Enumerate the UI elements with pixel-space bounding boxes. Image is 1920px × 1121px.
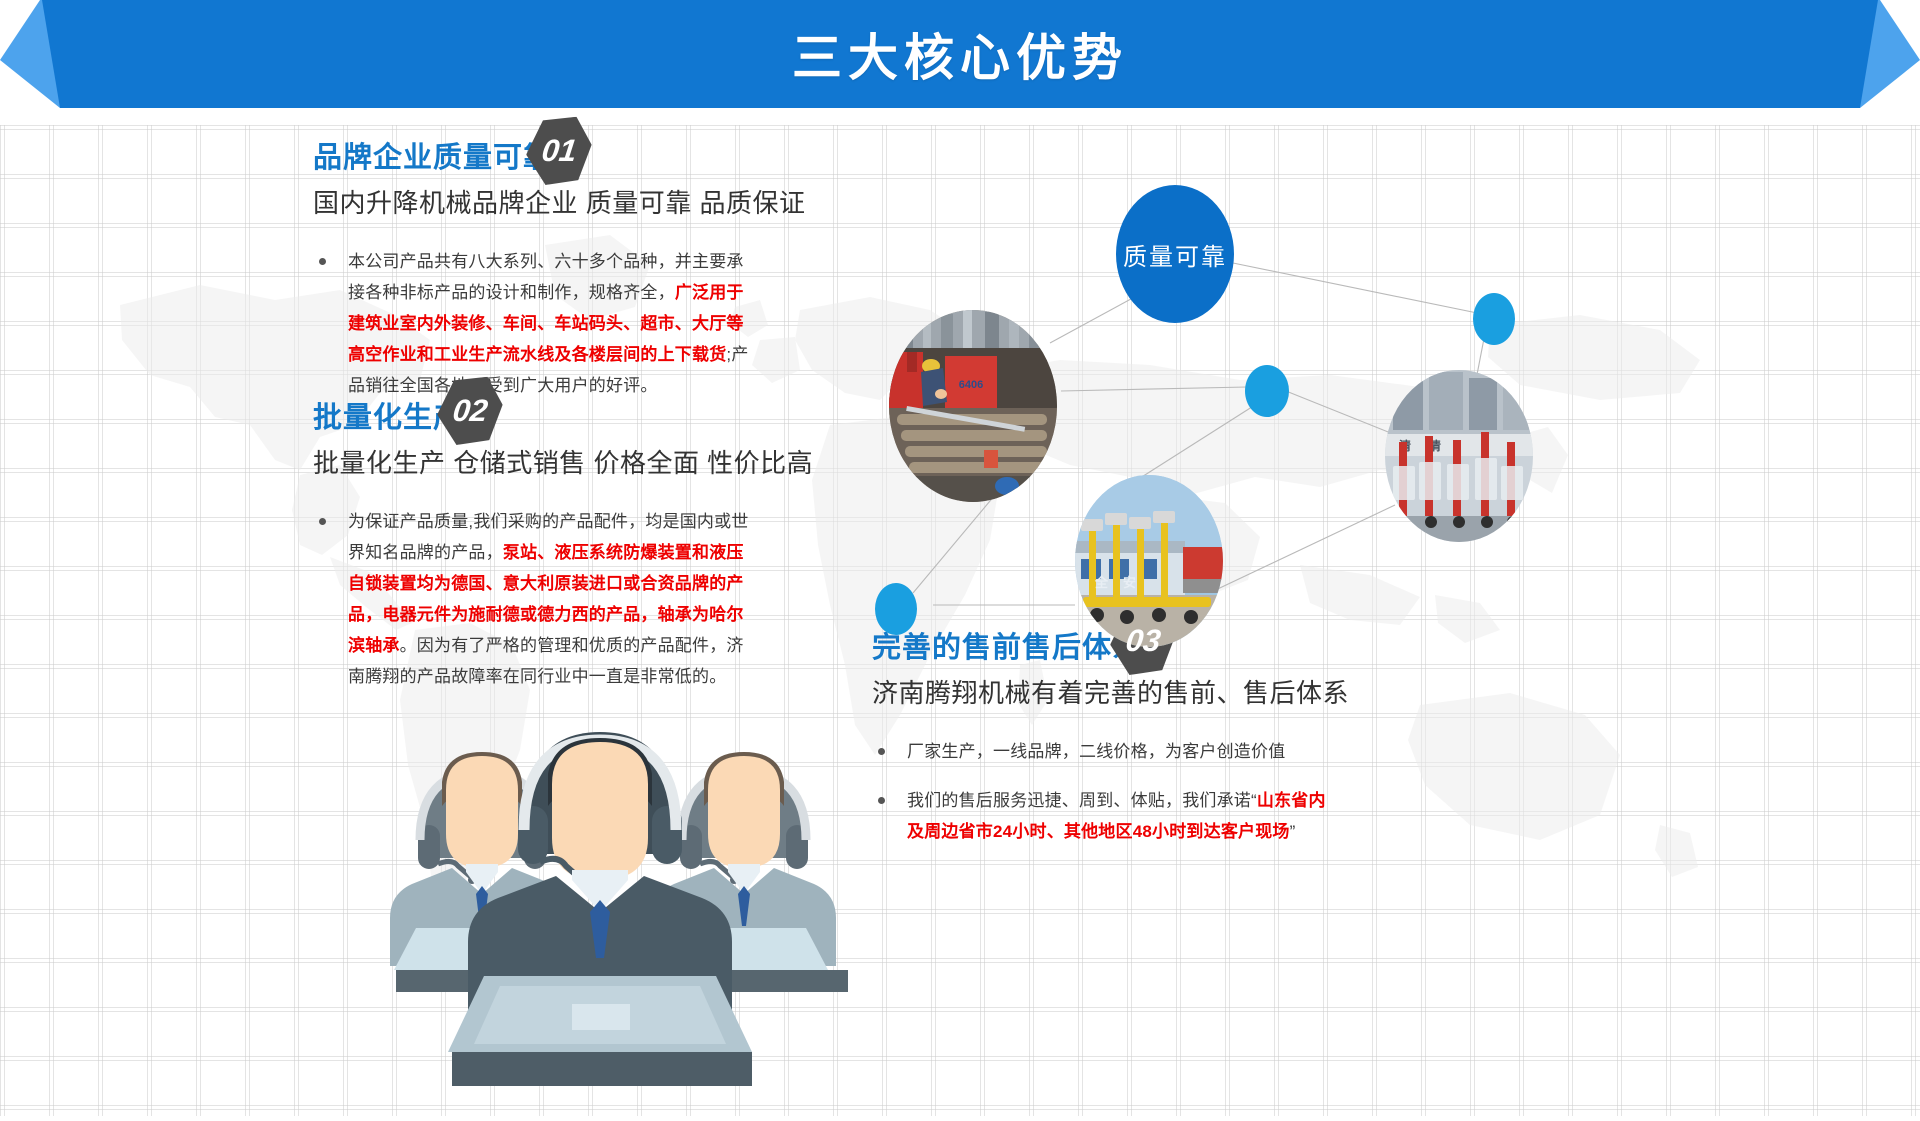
feature-03-number: 03 <box>1124 623 1163 659</box>
quality-bubble-label: 质量可靠 <box>1123 237 1227 272</box>
feature-03-bullets: 厂家生产，一线品牌，二线价格，为客户创造价值我们的售后服务迅捷、周到、体贴，我们… <box>872 736 1342 847</box>
body-text: 厂家生产，一线品牌，二线价格，为客户创造价值 <box>907 742 1285 761</box>
bullet-item: 本公司产品共有八大系列、六十多个品种，并主要承接各种非标产品的设计和制作，规格齐… <box>313 246 753 401</box>
feature-01-subtitle: 国内升降机械品牌企业 质量可靠 品质保证 <box>313 183 753 220</box>
feature-01-title: 品牌企业质量可靠 <box>313 140 553 176</box>
feature-02-number-badge: 02 <box>437 378 503 444</box>
feature-02-header: 批量化生产 02 <box>313 400 463 436</box>
bullet-item: 我们的售后服务迅捷、周到、体贴，我们承诺“山东省内及周边省市24小时、其他地区4… <box>872 785 1342 847</box>
feature-03-subtitle: 济南腾翔机械有着完善的售前、售后体系 <box>872 673 1342 710</box>
call-center-illustration <box>300 650 900 1116</box>
feature-01-number-badge: 01 <box>526 118 592 184</box>
dot-bottom-left <box>875 583 917 635</box>
lift-yard-photo: 全 安 <box>1075 475 1223 647</box>
feature-03-title: 完善的售前售后体系 <box>872 630 1142 666</box>
svg-text:6406: 6406 <box>959 379 983 391</box>
svg-text:全: 全 <box>1094 575 1109 590</box>
feature-01-header: 品牌企业质量可靠 01 <box>313 140 553 176</box>
feature-block-03: 完善的售前售后体系 03 济南腾翔机械有着完善的售前、售后体系 厂家生产，一线品… <box>872 630 1342 865</box>
body-text: 我们的售后服务迅捷、周到、体贴，我们承诺“ <box>907 791 1257 810</box>
feature-block-01: 品牌企业质量可靠 01 国内升降机械品牌企业 质量可靠 品质保证 本公司产品共有… <box>313 140 753 419</box>
lift-street-photo: 清 清 <box>1385 370 1533 542</box>
svg-text:安: 安 <box>1123 575 1136 590</box>
quality-bubble: 质量可靠 <box>1116 185 1234 323</box>
dot-top-right <box>1473 293 1515 345</box>
feature-03-header: 完善的售前售后体系 03 <box>872 630 1142 666</box>
bullet-item: 厂家生产，一线品牌，二线价格，为客户创造价值 <box>872 736 1342 767</box>
dot-center <box>1245 365 1289 417</box>
feature-02-number: 02 <box>451 393 490 429</box>
feature-01-number: 01 <box>540 133 579 169</box>
workshop-machine-photo: 6406 <box>889 310 1057 502</box>
feature-02-subtitle: 批量化生产 仓储式销售 价格全面 性价比高 <box>313 443 753 480</box>
quality-network-diagram: 质量可靠 6406 <box>875 175 1575 635</box>
body-text: ” <box>1290 822 1296 841</box>
feature-01-bullets: 本公司产品共有八大系列、六十多个品种，并主要承接各种非标产品的设计和制作，规格齐… <box>313 246 753 401</box>
